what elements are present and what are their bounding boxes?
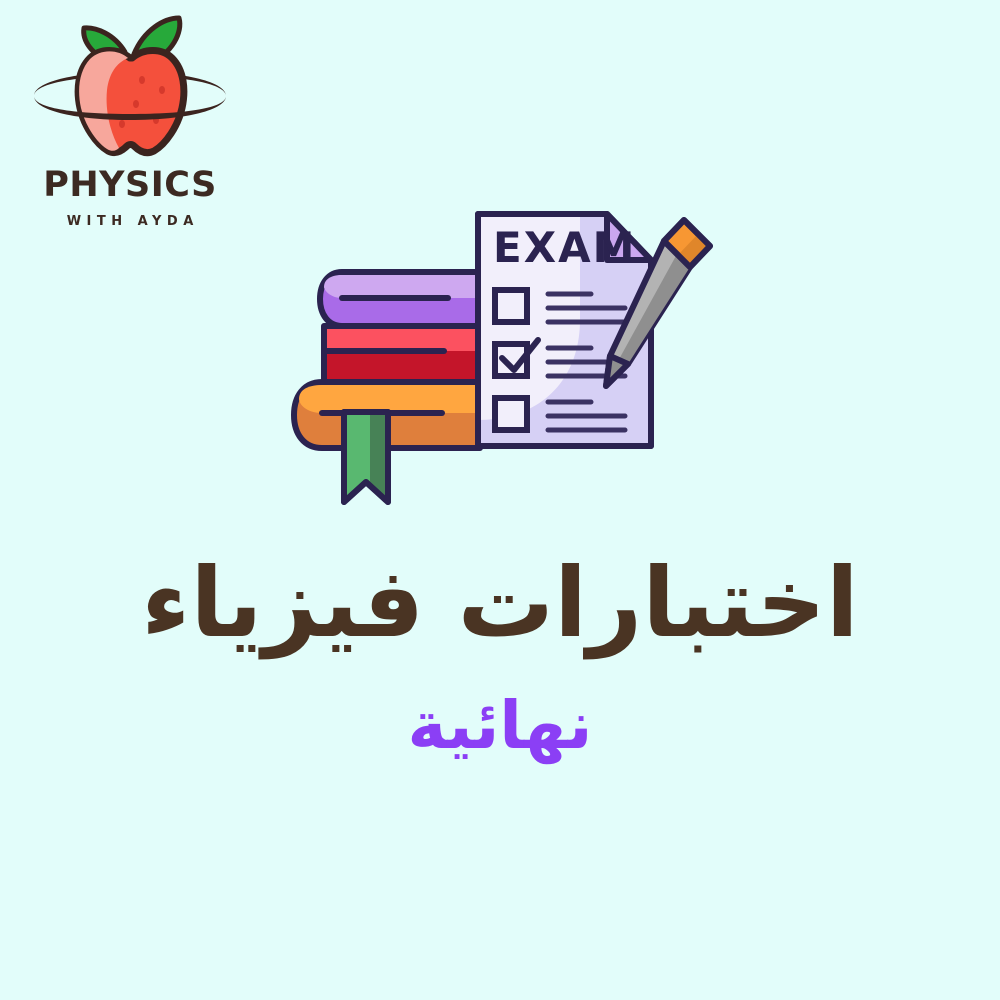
exam-label: EXAM (493, 223, 636, 272)
brand-name: PHYSICS (22, 168, 238, 203)
exam-books-illustration: EXAM (280, 180, 720, 530)
red-book (324, 326, 480, 382)
brand-logo: PHYSICS WITH AYDA (22, 12, 238, 232)
apple-planet-logo-icon (22, 12, 238, 164)
green-bookmark (344, 412, 388, 502)
purple-book (320, 272, 480, 326)
poster-card: PHYSICS WITH AYDA (0, 0, 1000, 1000)
page-subtitle: نهائية (0, 688, 1000, 764)
page-title: اختبارات فيزياء (0, 548, 1000, 658)
brand-tagline: WITH AYDA (22, 215, 238, 228)
